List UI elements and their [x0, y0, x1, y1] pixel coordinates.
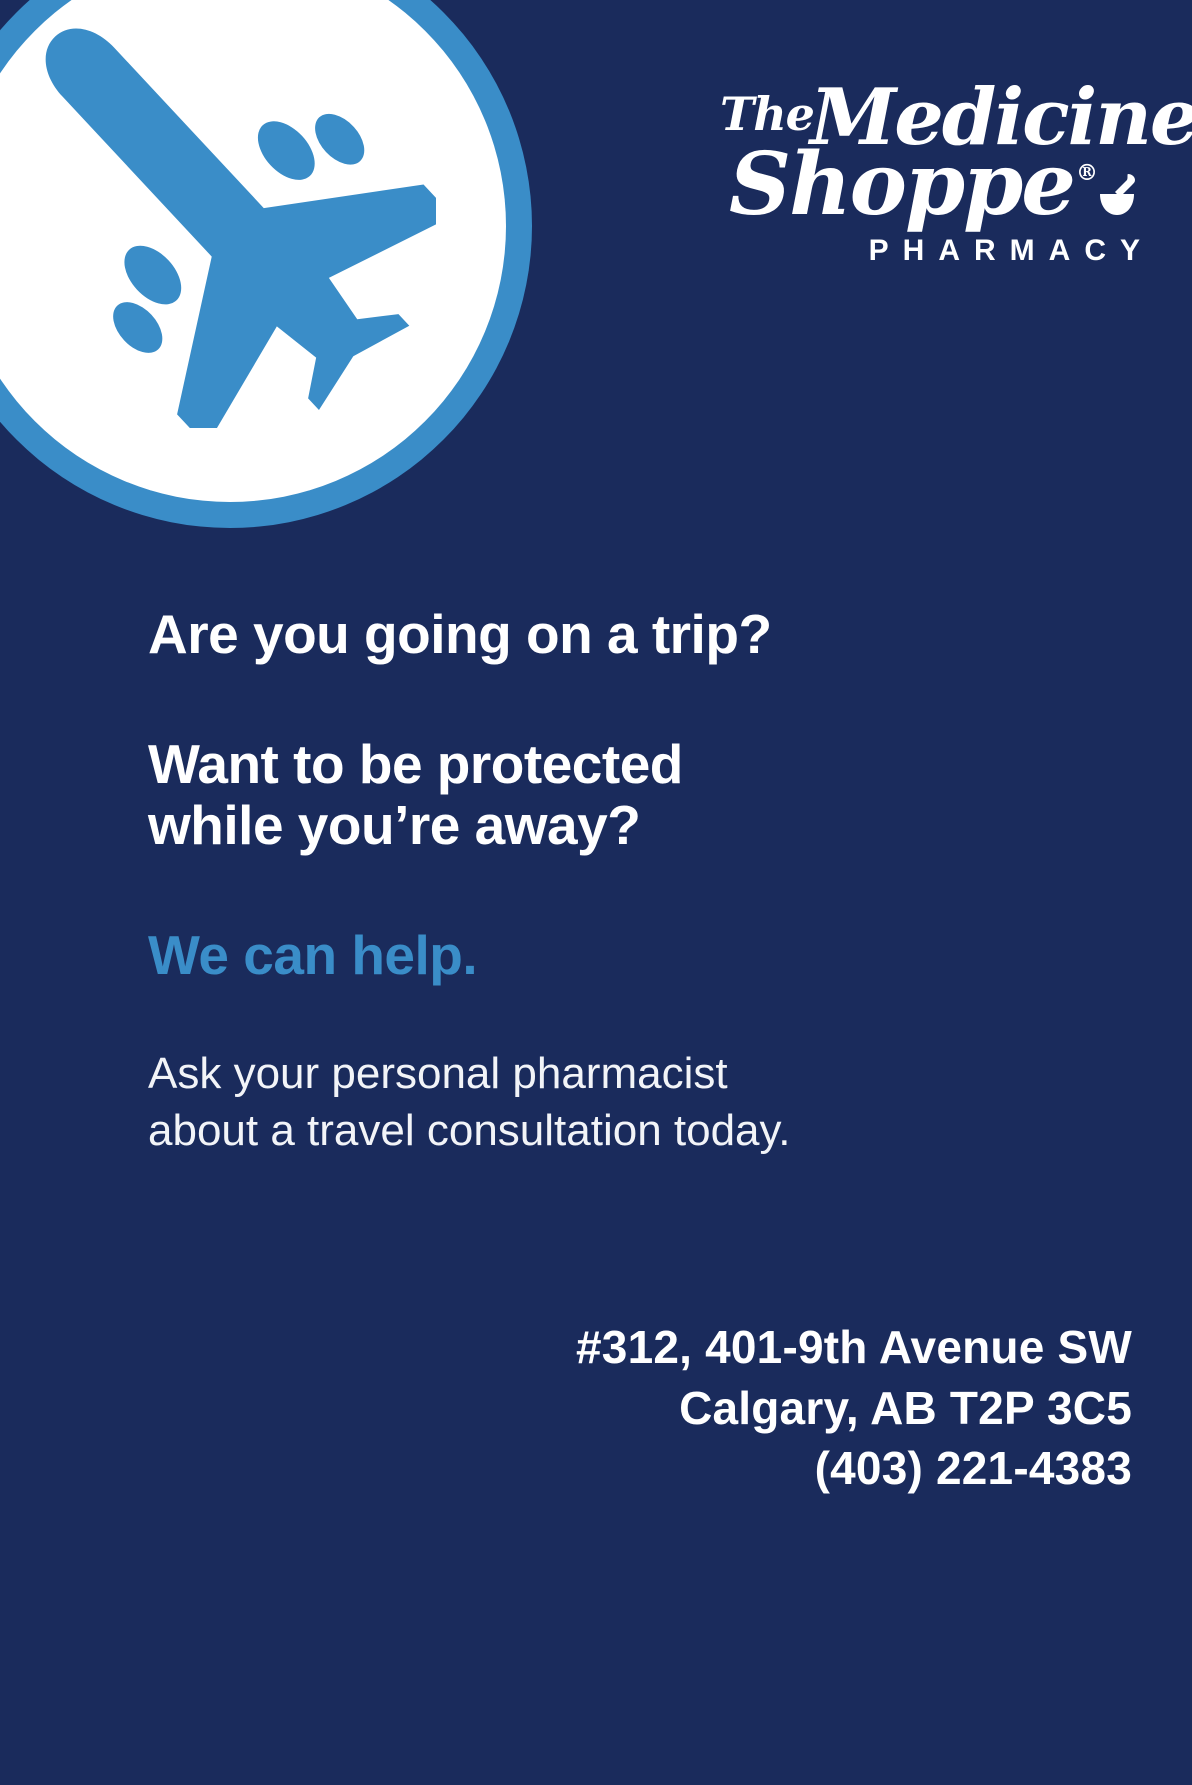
logo-shoppe: Shoppe [729, 134, 1074, 235]
headline-primary: Are you going on a trip? [148, 604, 1048, 666]
mortar-and-pestle-icon [1098, 172, 1140, 218]
logo-line-shoppe: Shoppe® [720, 145, 1140, 224]
registered-trademark-icon: ® [1076, 160, 1096, 186]
address-phone[interactable]: (403) 221-4383 [576, 1438, 1132, 1499]
address-street: #312, 401-9th Avenue SW [576, 1317, 1132, 1378]
logo-pharmacy-tagline: PHARMACY [720, 234, 1154, 268]
medicine-shoppe-logo: TheMedicine Shoppe® PHARMACY [720, 84, 1140, 268]
logo-the: The [720, 87, 814, 141]
poster-copy: Are you going on a trip? Want to be prot… [148, 604, 1048, 1159]
store-address-block: #312, 401-9th Avenue SW Calgary, AB T2P … [576, 1317, 1132, 1499]
body-text: Ask your personal pharmacist about a tra… [148, 1046, 1048, 1159]
address-city-postal: Calgary, AB T2P 3C5 [576, 1378, 1132, 1439]
airplane-badge [0, 0, 532, 528]
airplane-icon [0, 0, 436, 428]
headline-secondary: Want to be protected while you’re away? [148, 734, 1048, 857]
accent-callout: We can help. [148, 925, 1048, 987]
travel-consultation-poster: TheMedicine Shoppe® PHARMACY Are you goi… [0, 0, 1192, 1785]
